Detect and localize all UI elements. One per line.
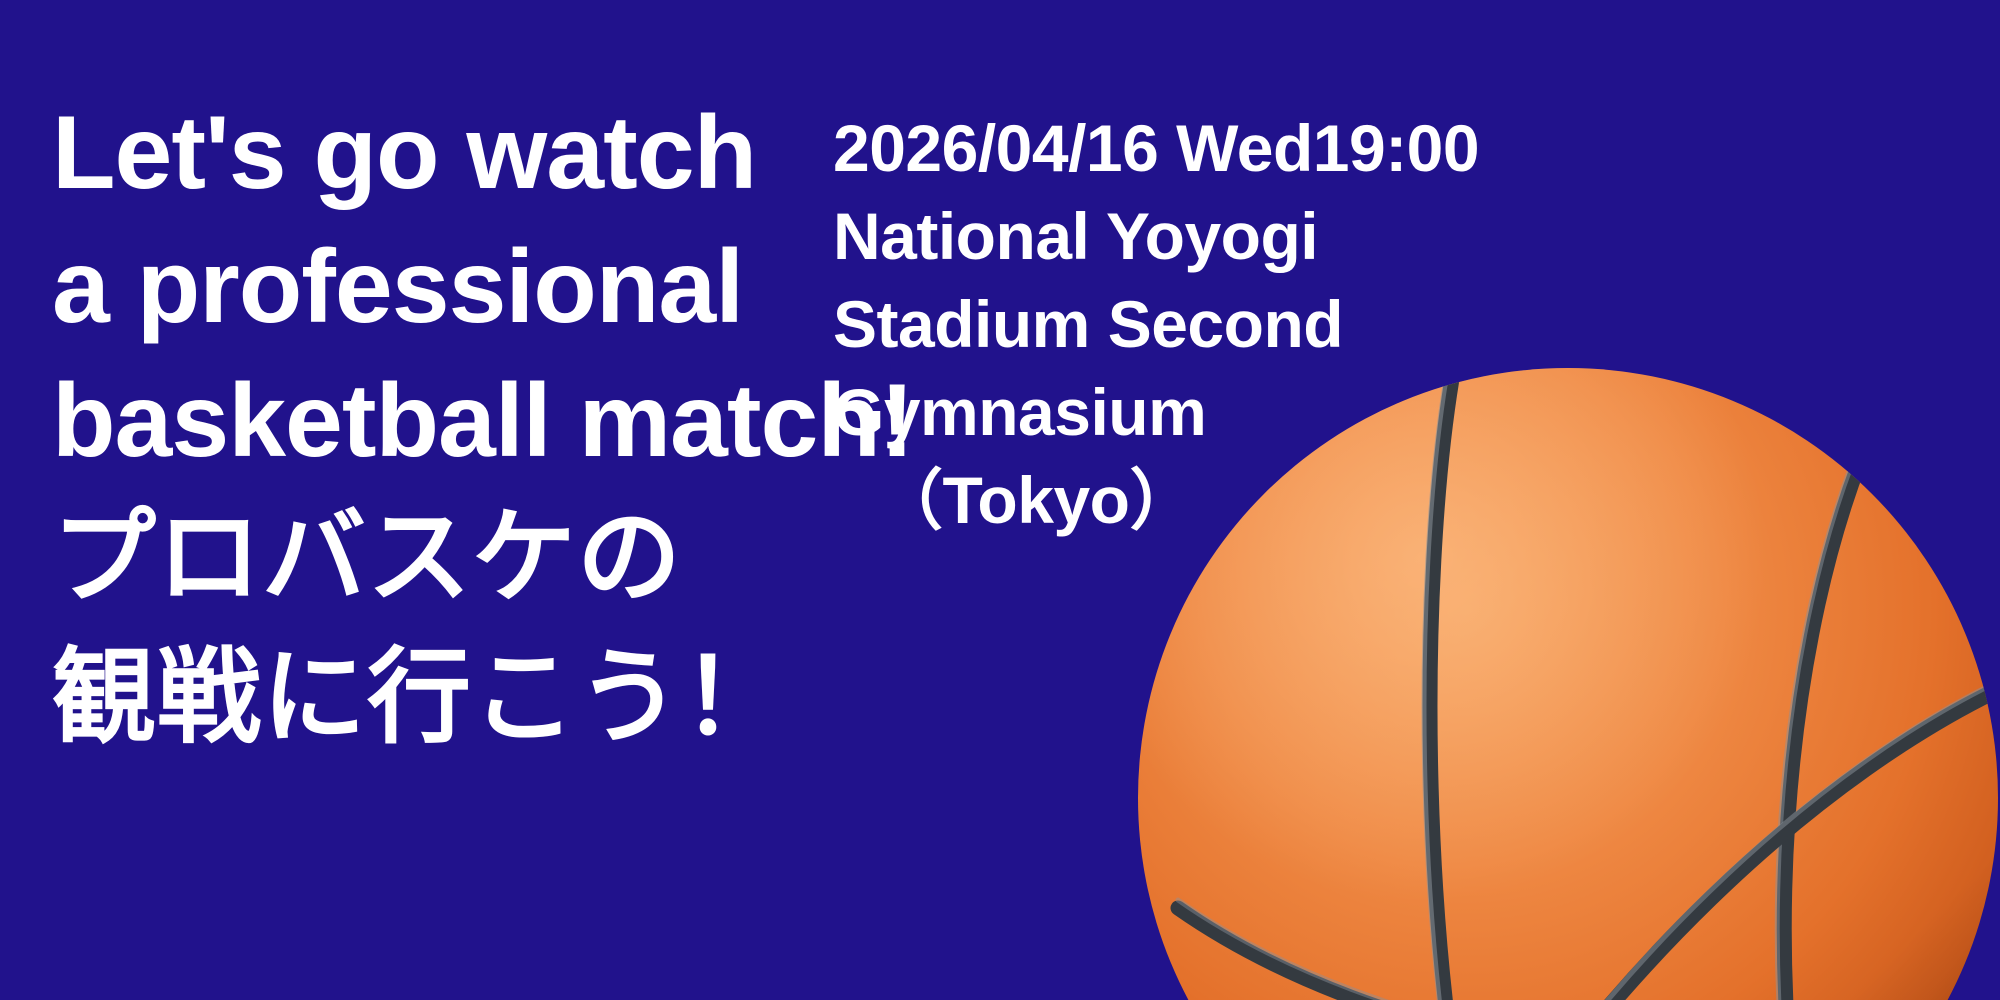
venue-line-2: Stadium Second [833,280,1473,368]
venue-city: （Tokyo） [833,456,1473,544]
headline-line-4-japanese: プロバスケの [52,488,852,628]
event-datetime: 2026/04/16 Wed19:00 [833,104,1473,192]
venue-line-3: Gymnasium [833,368,1473,456]
headline-line-1: Let's go watch [52,86,852,220]
event-banner: Let's go watch a professional basketball… [0,0,2000,1000]
event-info-block: 2026/04/16 Wed19:00 National Yoyogi Stad… [833,104,1473,544]
headline-line-2: a professional [52,220,852,354]
venue-line-1: National Yoyogi [833,192,1473,280]
headline-block: Let's go watch a professional basketball… [52,86,852,768]
headline-line-3: basketball match! [52,354,852,488]
headline-line-5-japanese: 観戦に行こう！ [52,628,852,768]
